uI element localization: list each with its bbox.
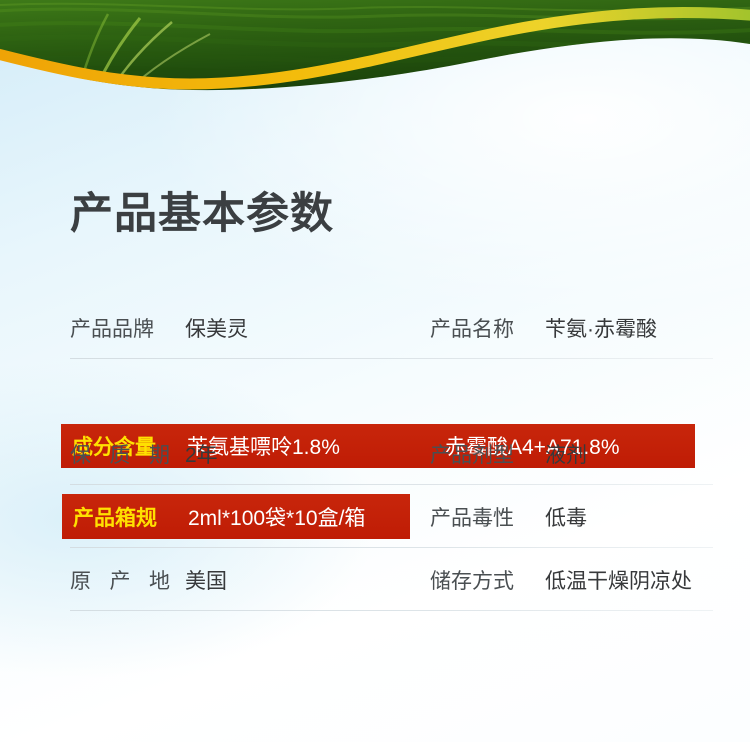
spec-value: 美国 <box>185 565 227 595</box>
table-row: 原 产 地 美国 储存方式 低温干燥阴凉处 <box>0 548 750 611</box>
spec-cell-right: 产品剂型 液剂 <box>430 422 587 485</box>
spec-value: 液剂 <box>545 439 587 469</box>
spec-cell-left: 保 质 期 2年 <box>70 422 218 485</box>
table-row-highlighted: 成分含量 苄氨基嘌呤1.8% 赤霉酸A4+A71.8% <box>0 359 750 422</box>
spec-label: 产品毒性 <box>430 502 530 532</box>
spec-label: 产品剂型 <box>430 439 530 469</box>
spec-cell-left: 产品箱规 2ml*100袋*10盒/箱 <box>73 494 365 539</box>
highlight-box: 产品箱规 2ml*100袋*10盒/箱 <box>62 494 410 539</box>
spec-cell-left: 产品品牌 保美灵 <box>70 296 248 359</box>
spec-label: 产品箱规 <box>73 502 173 532</box>
green-leaf-banner <box>0 0 750 112</box>
spec-cell-right: 产品毒性 低毒 <box>430 485 587 548</box>
product-spec-page: 产品基本参数 产品品牌 保美灵 产品名称 苄氨·赤霉酸 成分含量 苄氨基嘌呤1.… <box>0 0 750 742</box>
spec-cell-left: 原 产 地 美国 <box>70 548 227 611</box>
table-row-highlighted-left: 产品箱规 2ml*100袋*10盒/箱 产品毒性 低毒 <box>0 485 750 548</box>
spec-value: 2年 <box>185 439 218 469</box>
table-row: 保 质 期 2年 产品剂型 液剂 <box>0 422 750 485</box>
spec-label: 产品名称 <box>430 313 530 343</box>
spec-label: 原 产 地 <box>70 565 170 595</box>
spec-value: 低毒 <box>545 502 587 532</box>
row-divider <box>70 610 713 611</box>
spec-value: 保美灵 <box>185 313 248 343</box>
spec-value: 2ml*100袋*10盒/箱 <box>188 502 365 532</box>
page-title: 产品基本参数 <box>70 193 334 236</box>
spec-value: 苄氨·赤霉酸 <box>545 313 657 343</box>
spec-cell-right: 储存方式 低温干燥阴凉处 <box>430 548 692 611</box>
spec-value: 低温干燥阴凉处 <box>545 565 692 595</box>
spec-label: 产品品牌 <box>70 313 170 343</box>
spec-label: 保 质 期 <box>70 439 170 469</box>
table-row: 产品品牌 保美灵 产品名称 苄氨·赤霉酸 <box>0 296 750 359</box>
product-spec-table: 产品品牌 保美灵 产品名称 苄氨·赤霉酸 成分含量 苄氨基嘌呤1.8% 赤霉酸A… <box>0 296 750 611</box>
spec-cell-right: 产品名称 苄氨·赤霉酸 <box>430 296 657 359</box>
spec-label: 储存方式 <box>430 565 530 595</box>
